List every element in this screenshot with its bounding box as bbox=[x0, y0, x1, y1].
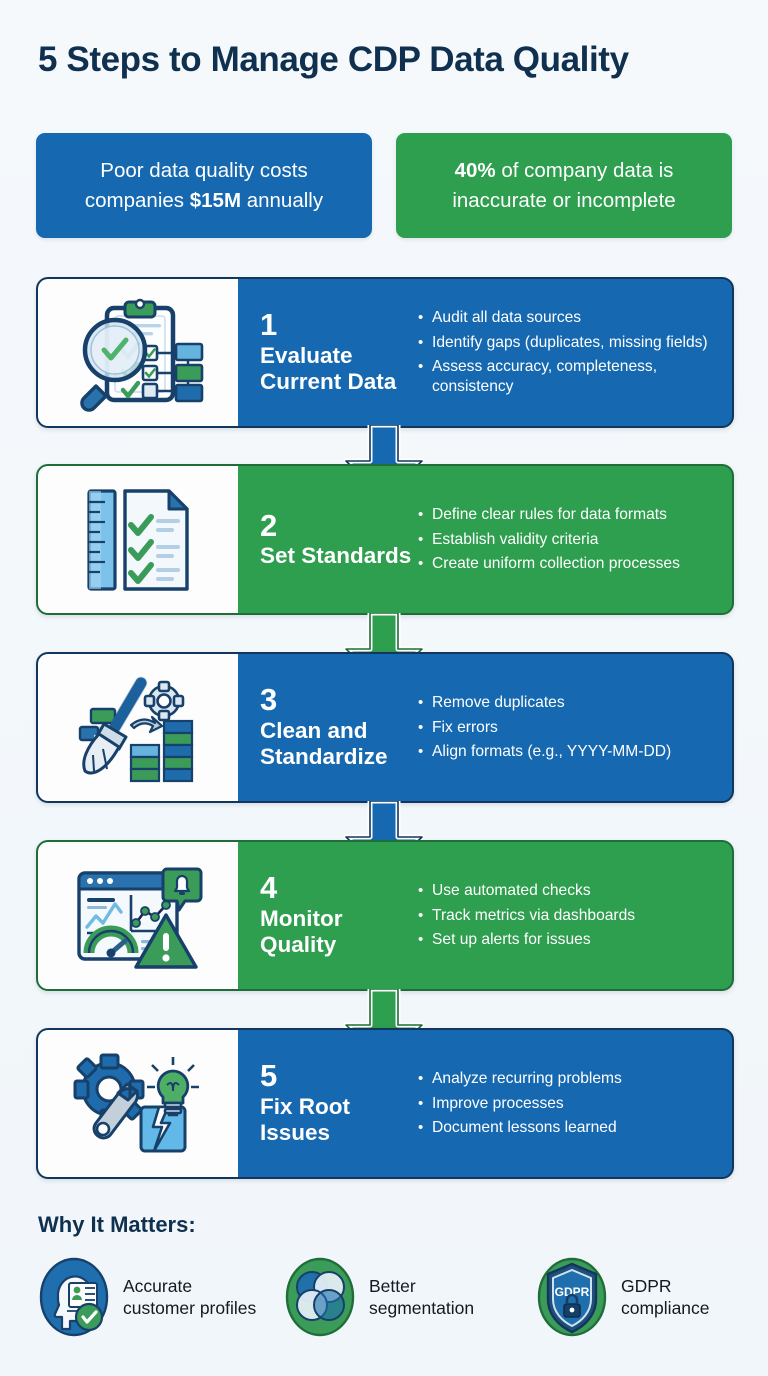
venn-segmentation-icon bbox=[284, 1255, 356, 1339]
step-card-1[interactable]: 1 Evaluate Current Data Audit all data s… bbox=[36, 277, 734, 428]
step-4-title: Monitor Quality bbox=[260, 906, 418, 959]
broom-gear-icon bbox=[63, 669, 213, 787]
list-item: Analyze recurring problems bbox=[418, 1069, 714, 1089]
stat-inaccuracy-highlight: 40% bbox=[455, 159, 496, 182]
infographic-page: 5 Steps to Manage CDP Data Quality Poor … bbox=[0, 0, 768, 1376]
step-card-4[interactable]: 4 Monitor Quality Use automated checks T… bbox=[36, 840, 734, 991]
list-item: Establish validity criteria bbox=[418, 530, 714, 550]
list-item: Use automated checks bbox=[418, 881, 714, 901]
step-2-heading: 2 Set Standards bbox=[238, 510, 418, 570]
step-3-icon-cell bbox=[38, 654, 238, 801]
step-3-number: 3 bbox=[260, 684, 418, 716]
step-1-icon-cell bbox=[38, 279, 238, 426]
step-3-heading: 3 Clean and Standardize bbox=[238, 684, 418, 770]
dashboard-alert-icon bbox=[63, 857, 213, 975]
step-5-bullets: Analyze recurring problems Improve proce… bbox=[418, 1065, 724, 1142]
list-item: Set up alerts for issues bbox=[418, 930, 714, 950]
list-item: Remove duplicates bbox=[418, 693, 714, 713]
step-1-bullets: Audit all data sources Identify gaps (du… bbox=[418, 304, 724, 401]
list-item: Create uniform collection processes bbox=[418, 554, 714, 574]
list-item: Audit all data sources bbox=[418, 308, 714, 328]
step-2-number: 2 bbox=[260, 510, 418, 542]
step-4-icon-cell bbox=[38, 842, 238, 989]
step-4-bullets: Use automated checks Track metrics via d… bbox=[418, 877, 724, 954]
step-card-5[interactable]: 5 Fix Root Issues Analyze recurring prob… bbox=[36, 1028, 734, 1179]
list-item: Improve processes bbox=[418, 1094, 714, 1114]
step-4-body: 4 Monitor Quality Use automated checks T… bbox=[238, 842, 732, 989]
stat-box-row: Poor data quality costs companies $15M a… bbox=[36, 133, 732, 238]
why-item-label: Better segmentation bbox=[369, 1275, 504, 1320]
step-card-3[interactable]: 3 Clean and Standardize Remove duplicate… bbox=[36, 652, 734, 803]
gdpr-shield-lock-icon: GDPR bbox=[536, 1255, 608, 1339]
why-it-matters-heading: Why It Matters: bbox=[38, 1212, 196, 1238]
step-5-heading: 5 Fix Root Issues bbox=[238, 1060, 418, 1146]
why-it-matters-row: Accurate customer profiles Better segmen… bbox=[36, 1255, 736, 1350]
step-2-title: Set Standards bbox=[260, 543, 418, 569]
list-item: Align formats (e.g., YYYY-MM-DD) bbox=[418, 742, 714, 762]
why-item-gdpr-compliance: GDPR GDPR compliance bbox=[536, 1255, 736, 1339]
step-card-2[interactable]: 2 Set Standards Define clear rules for d… bbox=[36, 464, 734, 615]
step-1-body: 1 Evaluate Current Data Audit all data s… bbox=[238, 279, 732, 426]
clipboard-magnifier-icon bbox=[63, 294, 213, 412]
step-2-bullets: Define clear rules for data formats Esta… bbox=[418, 501, 724, 578]
stat-cost-highlight: $15M bbox=[190, 189, 241, 212]
step-2-body: 2 Set Standards Define clear rules for d… bbox=[238, 466, 732, 613]
why-item-accurate-profiles: Accurate customer profiles bbox=[38, 1255, 258, 1339]
ruler-document-icon bbox=[63, 481, 213, 599]
list-item: Define clear rules for data formats bbox=[418, 505, 714, 525]
step-5-icon-cell bbox=[38, 1030, 238, 1177]
step-2-icon-cell bbox=[38, 466, 238, 613]
why-item-label: Accurate customer profiles bbox=[123, 1275, 258, 1320]
step-3-bullets: Remove duplicates Fix errors Align forma… bbox=[418, 689, 724, 766]
step-5-body: 5 Fix Root Issues Analyze recurring prob… bbox=[238, 1030, 732, 1177]
step-1-title: Evaluate Current Data bbox=[260, 343, 418, 396]
step-4-heading: 4 Monitor Quality bbox=[238, 872, 418, 958]
wrench-gear-bulb-icon bbox=[63, 1045, 213, 1163]
why-item-better-segmentation: Better segmentation bbox=[284, 1255, 504, 1339]
list-item: Track metrics via dashboards bbox=[418, 906, 714, 926]
gdpr-badge-text: GDPR bbox=[555, 1285, 590, 1299]
step-3-body: 3 Clean and Standardize Remove duplicate… bbox=[238, 654, 732, 801]
list-item: Document lessons learned bbox=[418, 1118, 714, 1138]
why-item-label: GDPR compliance bbox=[621, 1275, 736, 1320]
customer-profile-badge-icon bbox=[38, 1255, 110, 1339]
step-1-number: 1 bbox=[260, 309, 418, 341]
step-5-number: 5 bbox=[260, 1060, 418, 1092]
step-4-number: 4 bbox=[260, 872, 418, 904]
page-title: 5 Steps to Manage CDP Data Quality bbox=[38, 40, 738, 80]
stat-card-inaccuracy: 40% of company data is inaccurate or inc… bbox=[396, 133, 732, 238]
list-item: Assess accuracy, completeness, consisten… bbox=[418, 357, 714, 397]
stat-card-cost: Poor data quality costs companies $15M a… bbox=[36, 133, 372, 238]
step-5-title: Fix Root Issues bbox=[260, 1094, 418, 1147]
step-3-title: Clean and Standardize bbox=[260, 718, 418, 771]
list-item: Identify gaps (duplicates, missing field… bbox=[418, 333, 714, 353]
list-item: Fix errors bbox=[418, 718, 714, 738]
step-1-heading: 1 Evaluate Current Data bbox=[238, 309, 418, 395]
stat-cost-text-after: annually bbox=[241, 189, 323, 212]
